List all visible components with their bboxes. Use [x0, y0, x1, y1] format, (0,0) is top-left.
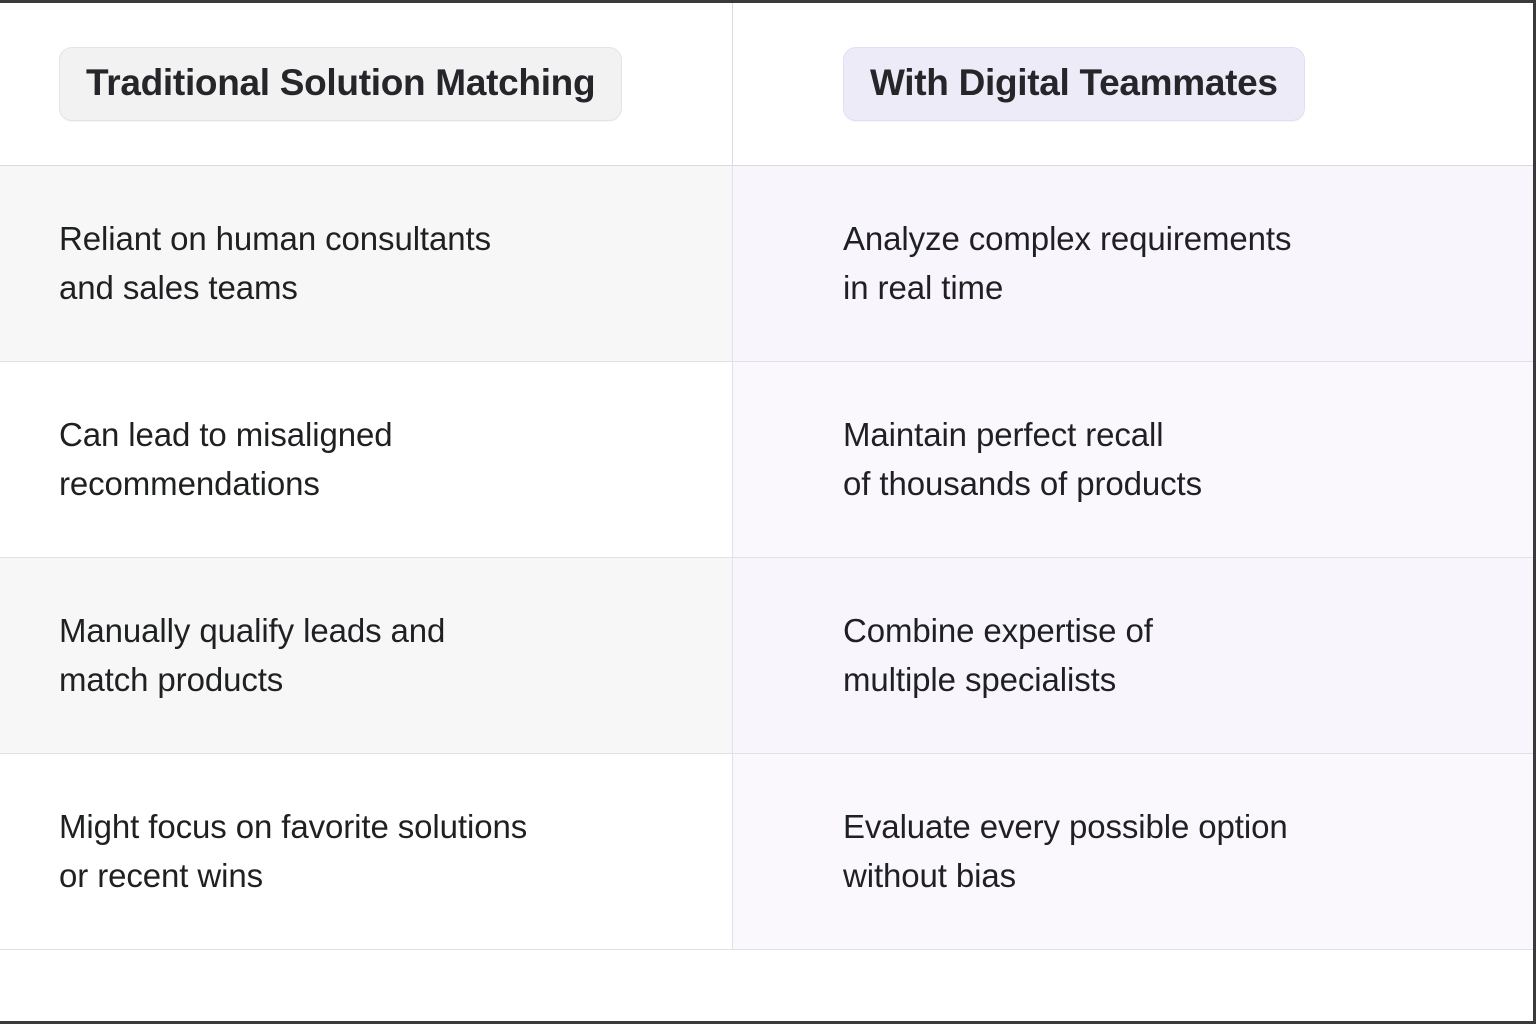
- header-cell-traditional: Traditional Solution Matching: [0, 3, 733, 165]
- cell-traditional: Reliant on human consultants and sales t…: [0, 166, 733, 361]
- column-header-pill-traditional: Traditional Solution Matching: [59, 47, 622, 122]
- cell-text: Reliant on human consultants and sales t…: [59, 215, 491, 313]
- table-row: Manually qualify leads and match product…: [0, 558, 1533, 754]
- table-row: Reliant on human consultants and sales t…: [0, 166, 1533, 362]
- cell-traditional: Might focus on favorite solutions or rec…: [0, 754, 733, 949]
- cell-text: Analyze complex requirements in real tim…: [843, 215, 1291, 313]
- comparison-table: Traditional Solution Matching With Digit…: [0, 0, 1536, 1024]
- cell-text: Evaluate every possible option without b…: [843, 803, 1288, 901]
- table-row: Can lead to misaligned recommendations M…: [0, 362, 1533, 558]
- cell-text: Maintain perfect recall of thousands of …: [843, 411, 1202, 509]
- cell-traditional: Manually qualify leads and match product…: [0, 558, 733, 753]
- cell-text: Might focus on favorite solutions or rec…: [59, 803, 527, 901]
- cell-digital: Combine expertise of multiple specialist…: [733, 558, 1533, 753]
- cell-digital: Maintain perfect recall of thousands of …: [733, 362, 1533, 557]
- table-footer-strip: [0, 950, 1533, 1021]
- cell-digital: Evaluate every possible option without b…: [733, 754, 1533, 949]
- cell-text: Can lead to misaligned recommendations: [59, 411, 393, 509]
- header-cell-digital: With Digital Teammates: [733, 3, 1533, 165]
- column-header-pill-digital: With Digital Teammates: [843, 47, 1305, 122]
- table-body: Reliant on human consultants and sales t…: [0, 166, 1533, 950]
- cell-traditional: Can lead to misaligned recommendations: [0, 362, 733, 557]
- cell-text: Combine expertise of multiple specialist…: [843, 607, 1153, 705]
- table-row: Might focus on favorite solutions or rec…: [0, 754, 1533, 950]
- cell-text: Manually qualify leads and match product…: [59, 607, 445, 705]
- table-header-row: Traditional Solution Matching With Digit…: [0, 3, 1533, 166]
- cell-digital: Analyze complex requirements in real tim…: [733, 166, 1533, 361]
